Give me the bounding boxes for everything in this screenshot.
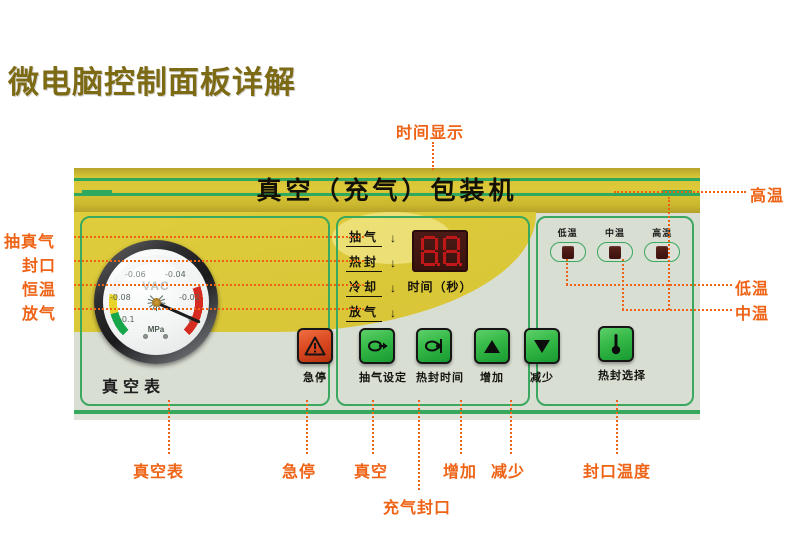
leader-vacuum-gauge	[168, 400, 170, 454]
callout-vacuum-extract: 抽真气	[4, 228, 55, 252]
callout-vacuum-gauge: 真空表	[133, 458, 184, 482]
leader-deflate	[74, 308, 364, 310]
leader-emergency-stop	[306, 400, 308, 454]
leader-high-temp	[614, 191, 746, 193]
seal-time-button-wrap[interactable]: 热封时间	[416, 328, 464, 385]
temperature-label-high: 高温	[644, 226, 680, 239]
callout-increase: 增加	[443, 458, 477, 482]
callout-decrease: 减少	[491, 458, 525, 482]
triangle-down-icon	[534, 340, 550, 353]
arrow-down-icon: ↓	[390, 232, 396, 244]
seal-time-icon	[422, 336, 446, 356]
led-digit-tens	[420, 236, 439, 266]
thermometer-icon	[609, 332, 623, 356]
callout-vacuum: 真空	[354, 458, 388, 482]
gauge-caption: 真空表	[102, 373, 165, 397]
temperature-indicator-group: 低温 中温 高温	[544, 226, 686, 262]
led-indicator-icon	[609, 246, 621, 259]
vacuum-gauge: VAC -0.1 -0.08 -0.06 -0.04 -0.02 0 MPa	[94, 240, 218, 364]
leader-vacuum-extract	[74, 236, 364, 238]
emergency-stop-button[interactable]	[297, 328, 333, 364]
leader-vacuum	[372, 400, 374, 454]
callout-mid-temp: 中温	[735, 300, 769, 324]
gauge-tick-label-0: -0.1	[119, 315, 135, 324]
leader-time-display	[432, 142, 434, 170]
vacuum-setting-button[interactable]	[359, 328, 395, 364]
leader-constant-temp	[74, 284, 364, 286]
step-label-fangqi: 放气	[346, 303, 382, 322]
seal-time-button[interactable]	[416, 328, 452, 364]
gauge-tick-label-4: -0.02	[179, 293, 200, 302]
gauge-screw	[163, 334, 168, 339]
callout-high-temp: 高温	[750, 182, 784, 206]
process-step-item: 放气 ↓	[346, 301, 396, 324]
gauge-face: VAC -0.1 -0.08 -0.06 -0.04 -0.02 0 MPa	[103, 249, 209, 355]
seal-temperature-label: 热封选择	[598, 367, 646, 383]
callout-time-display: 时间显示	[396, 119, 464, 143]
temperature-label-low: 低温	[550, 226, 586, 239]
callout-inflate-seal: 充气封口	[383, 494, 451, 518]
step-label-lengque: 冷却	[346, 278, 382, 297]
leader-low-temp-vert	[566, 259, 568, 285]
led-indicator-icon	[562, 246, 574, 259]
callout-seal: 封口	[22, 252, 56, 276]
vacuum-setting-button-wrap[interactable]: 抽气设定	[359, 328, 407, 385]
gauge-unit-label: MPa	[103, 325, 209, 334]
temperature-pill-mid	[597, 242, 633, 262]
time-display	[412, 230, 468, 272]
temperature-indicator-mid: 中温	[597, 226, 633, 262]
decrease-label: 减少	[524, 369, 560, 385]
callout-seal-temperature: 封口温度	[583, 458, 651, 482]
vacuum-setting-label: 抽气设定	[359, 369, 407, 385]
seal-temperature-button-wrap[interactable]: 热封选择	[598, 326, 646, 383]
gauge-tick-label-1: -0.08	[110, 293, 131, 302]
process-step-item: 冷却 ↓	[346, 276, 396, 299]
leader-low-temp	[566, 284, 732, 286]
arrow-down-icon: ↓	[390, 307, 396, 319]
temperature-pill-high	[644, 242, 680, 262]
leader-mid-temp	[622, 309, 732, 311]
temperature-label-mid: 中温	[597, 226, 633, 239]
page-title: 微电脑控制面板详解	[8, 57, 296, 102]
temperature-indicator-low: 低温	[550, 226, 586, 262]
callout-emergency-stop: 急停	[282, 458, 316, 482]
callout-low-temp: 低温	[735, 275, 769, 299]
leader-high-temp-vert	[668, 197, 670, 310]
decrease-button[interactable]	[524, 328, 560, 364]
emergency-stop-button-wrap[interactable]: 急停	[297, 328, 333, 385]
leader-mid-temp-vert	[622, 259, 624, 310]
led-digit-ones	[442, 236, 461, 266]
process-step-item: 热封 ↓	[346, 251, 396, 274]
triangle-up-icon	[484, 340, 500, 353]
increase-button[interactable]	[474, 328, 510, 364]
time-display-caption: 时间（秒）	[392, 278, 488, 295]
process-step-list: 抽气 ↓ 热封 ↓ 冷却 ↓ 放气 ↓	[346, 226, 396, 326]
step-label-refeng: 热封	[346, 253, 382, 272]
seal-time-label: 热封时间	[416, 369, 464, 385]
leader-inflate-seal	[418, 400, 420, 490]
decrease-button-wrap[interactable]: 减少	[524, 328, 560, 385]
seal-temperature-button[interactable]	[598, 326, 634, 362]
warning-triangle-icon	[304, 336, 326, 356]
leader-seal-temperature	[616, 400, 618, 454]
vacuum-loop-icon	[365, 336, 389, 356]
gauge-hub	[152, 298, 161, 307]
increase-button-wrap[interactable]: 增加	[474, 328, 510, 385]
leader-seal	[74, 260, 364, 262]
control-panel: 真空（充气）包装机 VAC -0.1 -0.08 -0.06 -0.04 -0.…	[74, 168, 700, 420]
panel-banner-title: 真空（充气）包装机	[74, 170, 700, 212]
gauge-screw	[143, 334, 148, 339]
arrow-down-icon: ↓	[390, 257, 396, 269]
leader-increase	[460, 400, 462, 454]
callout-constant-temp: 恒温	[22, 276, 56, 300]
banner-dash-left	[82, 190, 112, 194]
callout-deflate: 放气	[22, 300, 56, 324]
led-indicator-icon	[656, 246, 668, 259]
increase-label: 增加	[474, 369, 510, 385]
temperature-indicator-high: 高温	[644, 226, 680, 262]
leader-decrease	[510, 400, 512, 454]
emergency-stop-label: 急停	[297, 369, 333, 385]
